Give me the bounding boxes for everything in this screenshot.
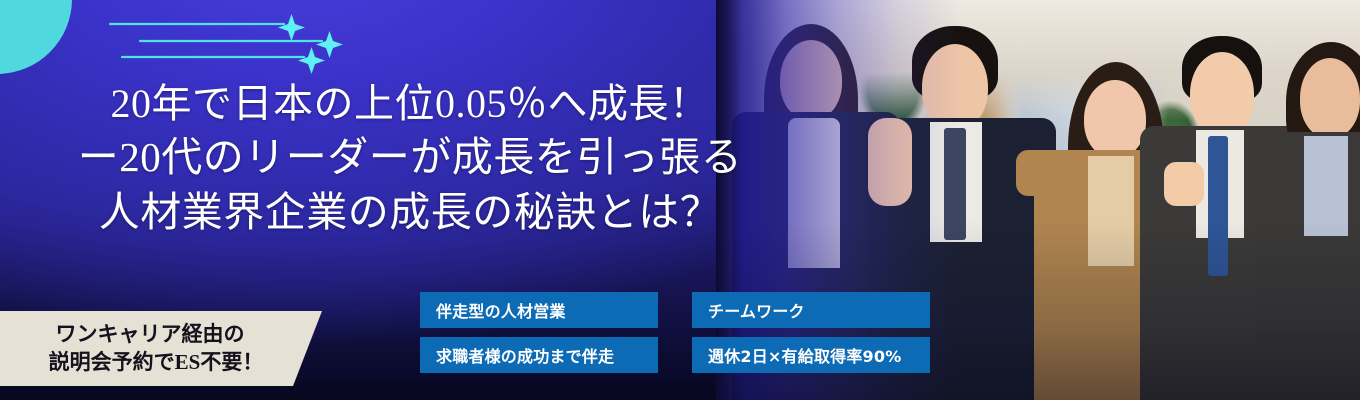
- tag-holidays[interactable]: 週休2日×有給取得率90%: [692, 337, 930, 373]
- tag-sales-style[interactable]: 伴走型の人材営業: [420, 292, 658, 328]
- page-title: 20年で日本の上位0.05％へ成長！ ー20代のリーダーが成長を引っ張る 人材業…: [0, 80, 820, 236]
- tag-teamwork[interactable]: チームワーク: [692, 292, 930, 328]
- ribbon-line-1: ワンキャリア経由の: [56, 321, 267, 349]
- headline-line-3: 人材業界企業の成長の秘訣とは？: [0, 188, 820, 236]
- sparkle-lines-decoration: [100, 8, 360, 80]
- tag-candidate-support[interactable]: 求職者様の成功まで伴走: [420, 337, 658, 373]
- no-es-required-ribbon: ワンキャリア経由の 説明会予約でES不要！: [0, 311, 322, 386]
- recruitment-banner: 20年で日本の上位0.05％へ成長！ ー20代のリーダーが成長を引っ張る 人材業…: [0, 0, 1360, 400]
- headline-line-1: 20年で日本の上位0.05％へ成長！: [0, 80, 820, 127]
- ribbon-line-2: 説明会予約でES不要！: [49, 349, 274, 377]
- feature-tag-grid: 伴走型の人材営業 チームワーク 求職者様の成功まで伴走 週休2日×有給取得率90…: [420, 292, 930, 373]
- sparkle-star-icon: [278, 14, 343, 74]
- headline-line-2: ー20代のリーダーが成長を引っ張る: [0, 133, 820, 181]
